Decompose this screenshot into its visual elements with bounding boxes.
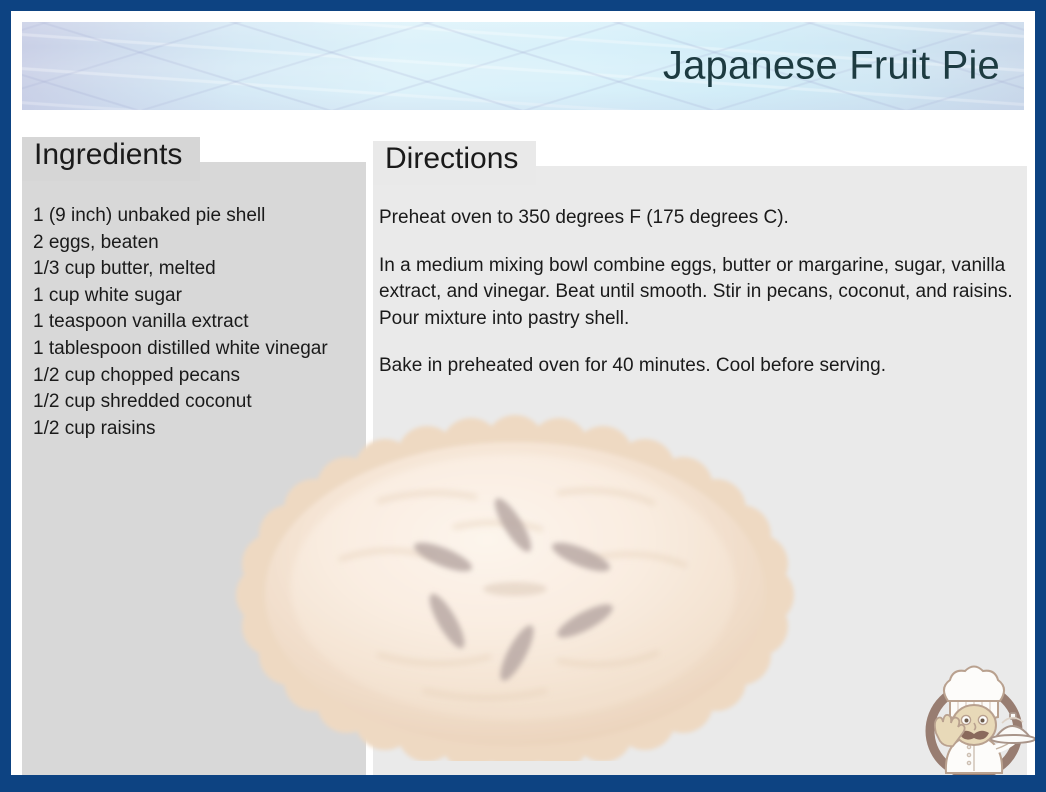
list-item: 1/3 cup butter, melted [33,256,343,283]
list-item: 1 cup white sugar [33,283,343,310]
directions-body: Preheat oven to 350 degrees F (175 degre… [379,205,1029,380]
list-item: 1/2 cup chopped pecans [33,363,343,390]
list-item: 1 (9 inch) unbaked pie shell [33,203,343,230]
list-item: 1/2 cup shredded coconut [33,389,343,416]
direction-step: In a medium mixing bowl combine eggs, bu… [379,253,1029,333]
list-item: 1 teaspoon vanilla extract [33,309,343,336]
page-title: Japanese Fruit Pie [663,44,1000,89]
ingredients-list: 1 (9 inch) unbaked pie shell 2 eggs, bea… [33,203,343,442]
direction-step: Bake in preheated oven for 40 minutes. C… [379,353,1029,380]
recipe-page: Japanese Fruit Pie [11,11,1035,775]
list-item: 1 tablespoon distilled white vinegar [33,336,343,363]
list-item: 1/2 cup raisins [33,416,343,443]
ingredients-heading: Ingredients [22,137,200,181]
direction-step: Preheat oven to 350 degrees F (175 degre… [379,205,1029,232]
list-item: 2 eggs, beaten [33,230,343,257]
header-banner: Japanese Fruit Pie [22,22,1024,110]
recipe-card: Japanese Fruit Pie [0,0,1046,792]
chef-logo-icon [914,661,1035,775]
directions-heading: Directions [373,141,536,185]
